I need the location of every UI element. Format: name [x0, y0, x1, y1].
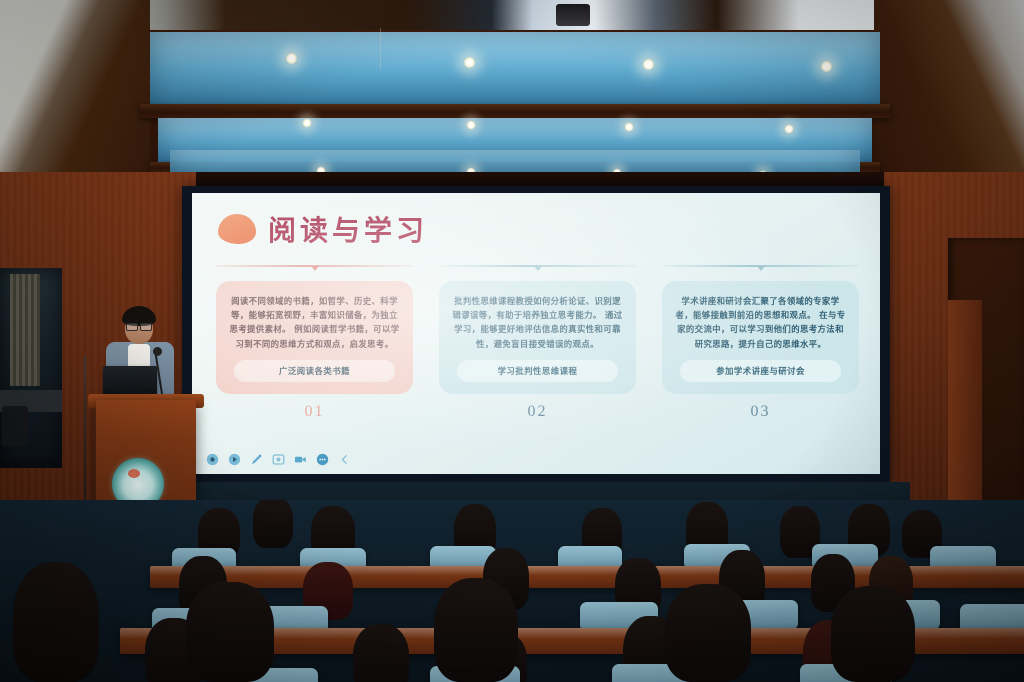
ceiling-right-soffit: [874, 0, 1024, 190]
column-card: 学术讲座和研讨会汇聚了各领域的专家学者，能够接触到前沿的思想和观点。 在与专家的…: [662, 281, 859, 394]
column-number: 03: [751, 403, 771, 421]
record-dot-icon[interactable]: [206, 453, 219, 466]
control-chair: [2, 406, 28, 446]
audience-member: [180, 582, 280, 682]
pen-icon[interactable]: [250, 453, 263, 466]
orange-blob-icon: [218, 214, 256, 244]
column-pill-label: 参加学术讲座与研讨会: [680, 360, 841, 382]
slide-column-01: 阅读不同领域的书籍，如哲学、历史、科学等，能够拓宽视野，丰富知识储备，为独立思考…: [216, 261, 413, 421]
presentation-toolbar[interactable]: [206, 453, 351, 466]
curtain: [10, 274, 40, 386]
video-camera-icon[interactable]: [294, 453, 307, 466]
column-body-text: 学术讲座和研讨会汇聚了各领域的专家学者，能够接触到前沿的思想和观点。 在与专家的…: [673, 294, 848, 351]
more-options-icon[interactable]: [316, 453, 329, 466]
slide-header: 阅读与学习: [218, 209, 428, 249]
column-pill-label: 广泛阅读各类书籍: [234, 360, 395, 382]
play-circle-icon[interactable]: [228, 453, 241, 466]
ceiling-light: [624, 122, 634, 132]
column-divider: [216, 261, 413, 273]
person-hair: [353, 624, 409, 682]
ceiling-light: [302, 118, 312, 128]
audience-member: [826, 586, 920, 682]
ceiling-light: [466, 120, 476, 130]
eyeglasses-icon: [126, 323, 152, 329]
projected-slide: 阅读与学习 阅读不同领域的书籍，如哲学、历史、科学等，能够拓宽视野，丰富知识储备…: [192, 193, 880, 474]
ceiling-light: [784, 124, 794, 134]
collapse-left-icon[interactable]: [338, 453, 351, 466]
lecture-hall-photo: 阅读与学习 阅读不同领域的书籍，如哲学、历史、科学等，能够拓宽视野，丰富知识储备…: [0, 0, 1024, 682]
ceiling-light: [463, 56, 476, 69]
ceiling: [0, 0, 1024, 190]
slide-column-03: 学术讲座和研讨会汇聚了各领域的专家学者，能够接触到前沿的思想和观点。 在与专家的…: [662, 261, 859, 421]
divider-marker-icon: [311, 266, 319, 271]
person-hair: [186, 582, 274, 682]
slide-column-02: 批判性思维课程教授如何分析论证、识别逻辑谬误等，有助于培养独立思考能力。 通过学…: [439, 261, 636, 421]
column-body-text: 批判性思维课程教授如何分析论证、识别逻辑谬误等，有助于培养独立思考能力。 通过学…: [450, 294, 625, 351]
column-pill-label: 学习批判性思维课程: [457, 360, 618, 382]
control-room-window: [0, 268, 62, 468]
ceiling-cable: [380, 28, 381, 70]
column-number: 01: [305, 403, 325, 421]
audience-member: [430, 578, 522, 682]
person-hair: [665, 584, 751, 682]
ceiling-light: [285, 52, 298, 65]
column-divider: [662, 261, 859, 273]
column-card: 批判性思维课程教授如何分析论证、识别逻辑谬误等，有助于培养独立思考能力。 通过学…: [439, 281, 636, 394]
audience-member: [350, 624, 412, 682]
column-divider: [439, 261, 636, 273]
audience-member: [8, 562, 104, 682]
column-body-text: 阅读不同领域的书籍，如哲学、历史、科学等，能够拓宽视野，丰富知识储备，为独立思考…: [227, 294, 402, 351]
slide-columns: 阅读不同领域的书籍，如哲学、历史、科学等，能够拓宽视野，丰富知识储备，为独立思考…: [216, 261, 860, 421]
ceiling-panel-tier-1: [150, 32, 880, 104]
ceiling-top-strip: [0, 0, 1024, 30]
audience-member: [250, 500, 296, 556]
person-hair: [831, 586, 915, 682]
presenter-laptop: [103, 366, 157, 396]
person-hair: [253, 500, 293, 548]
slide-title: 阅读与学习: [268, 209, 428, 249]
person-hair: [13, 562, 99, 682]
ceiling-beam-1: [140, 104, 890, 118]
divider-marker-icon: [534, 266, 542, 271]
column-card: 阅读不同领域的书籍，如哲学、历史、科学等，能够拓宽视野，丰富知识储备，为独立思考…: [216, 281, 413, 394]
audience-member: [660, 584, 756, 682]
column-number: 02: [528, 403, 548, 421]
ceiling-left-soffit: [0, 0, 150, 190]
floor-microphone-stand: [84, 356, 86, 506]
person-hair: [434, 578, 518, 682]
audience-area: [0, 500, 1024, 682]
ceiling-projector: [556, 4, 590, 26]
microphone-head: [153, 347, 162, 356]
divider-marker-icon: [757, 266, 765, 271]
spotlight-icon[interactable]: [272, 453, 285, 466]
ceiling-light: [642, 58, 655, 71]
ceiling-light: [820, 60, 833, 73]
